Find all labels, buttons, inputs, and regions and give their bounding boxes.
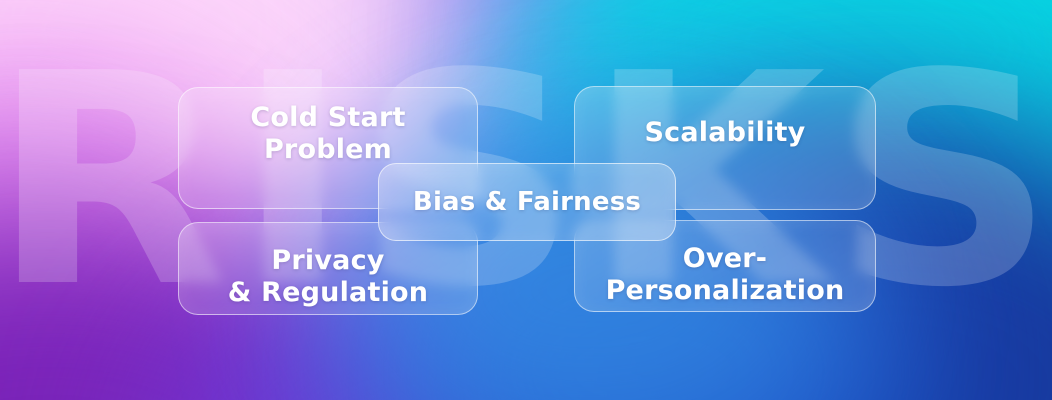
risks-infographic: RISKS Cold Start Problem Scalability Pri…: [0, 0, 1052, 400]
card-scalability-label: Scalability: [631, 117, 820, 149]
card-bias-fairness[interactable]: Bias & Fairness: [378, 163, 676, 241]
card-over-personalization-label: Over- Personalization: [592, 243, 859, 307]
card-cold-start-label: Cold Start Problem: [236, 102, 419, 166]
card-bias-fairness-label: Bias & Fairness: [399, 186, 655, 218]
card-privacy-regulation-label: Privacy & Regulation: [214, 245, 442, 309]
